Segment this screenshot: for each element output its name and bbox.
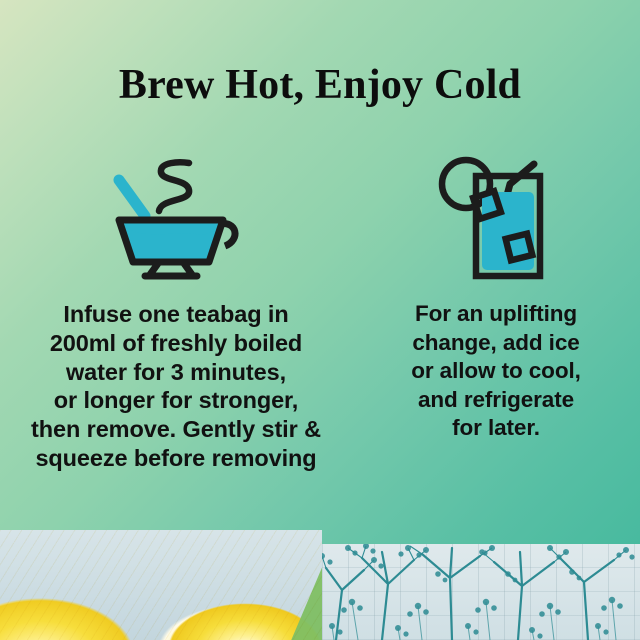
- bottom-photo-strip: [0, 530, 640, 640]
- instruction-column-enjoy-cold: For an upliftingchange, add iceor allow …: [352, 150, 640, 443]
- instruction-text-right: For an upliftingchange, add iceor allow …: [403, 300, 589, 443]
- instruction-column-brew-hot: Infuse one teabag in200ml of freshly boi…: [0, 150, 352, 473]
- teal-botanical-fennel-illustration: [322, 544, 640, 640]
- instruction-columns: Infuse one teabag in200ml of freshly boi…: [0, 150, 640, 473]
- lemon-slices-closeup-photo: [0, 530, 322, 640]
- poster-canvas: Brew Hot, Enjoy Cold: [0, 0, 640, 640]
- iced-drink-icon-wrap: [426, 150, 566, 300]
- teacup-icon-wrap: [101, 150, 251, 300]
- iced-drink-glass-with-straw-and-lemon-icon: [426, 152, 566, 287]
- lime-peel-wedge: [290, 530, 322, 640]
- page-title: Brew Hot, Enjoy Cold: [0, 62, 640, 108]
- steaming-teacup-with-spoon-icon: [101, 158, 251, 288]
- fennel-engraving-drawing: [322, 544, 640, 640]
- instruction-text-left: Infuse one teabag in200ml of freshly boi…: [23, 300, 329, 473]
